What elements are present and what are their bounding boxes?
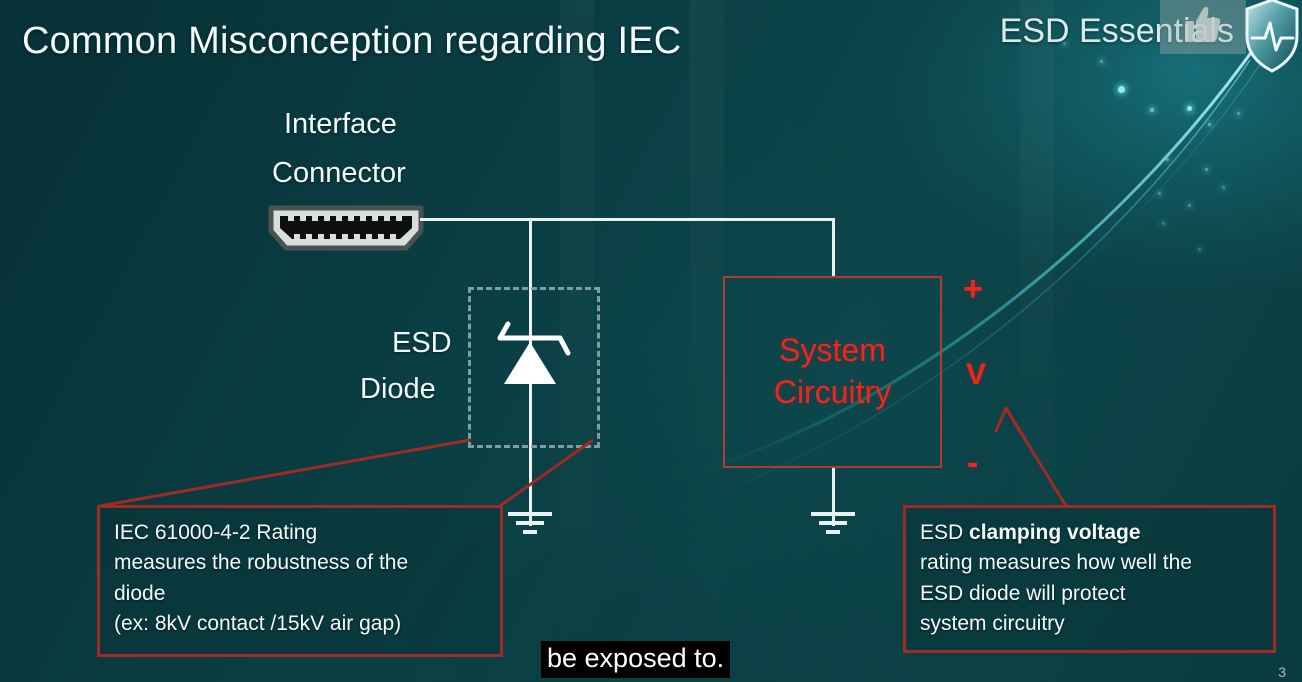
esd-label-line2: Diode — [360, 373, 436, 406]
background-particle — [1166, 158, 1169, 161]
background-particle — [1100, 60, 1103, 63]
callout-right-line1-prefix: ESD — [920, 521, 969, 544]
thumbs-up-icon[interactable] — [1160, 0, 1246, 54]
hdmi-connector-icon — [266, 203, 426, 253]
callout-right-line1: ESD clamping voltage — [920, 518, 1259, 548]
system-circuitry-line2: Circuitry — [774, 372, 891, 414]
callout-box-iec-rating: IEC 61000-4-2 Rating measures the robust… — [97, 505, 503, 657]
voltage-v-label: V — [966, 358, 986, 392]
wire-horizontal-main — [420, 218, 834, 221]
polarity-minus-label: - — [967, 444, 978, 483]
background-particle — [1208, 123, 1211, 126]
callout-box-clamping-voltage: ESD clamping voltage rating measures how… — [903, 505, 1276, 653]
callout-right-line3: ESD diode will protect — [920, 579, 1259, 609]
callout-right-line4: system circuitry — [920, 609, 1259, 639]
background-particle — [1158, 192, 1161, 195]
callout-left-line2: measures the robustness of the — [114, 548, 486, 578]
background-particle — [1222, 186, 1225, 189]
callout-left-line4: (ex: 8kV contact /15kV air gap) — [114, 609, 486, 639]
background-particle — [1187, 106, 1192, 111]
subtitle-caption: be exposed to. — [541, 641, 730, 678]
zener-diode-icon — [488, 308, 580, 390]
interface-label-line2: Connector — [272, 157, 406, 190]
shield-heartbeat-icon — [1243, 0, 1301, 74]
callout-left-line3: diode — [114, 579, 486, 609]
background-particle — [1162, 222, 1165, 225]
background-particle — [1205, 168, 1208, 171]
esd-label-line1: ESD — [392, 327, 452, 360]
background-particle — [1237, 112, 1240, 115]
background-particle — [1188, 204, 1191, 207]
interface-label-line1: Interface — [284, 108, 397, 141]
page-number: 3 — [1278, 664, 1286, 680]
callout-right-line2: rating measures how well the — [920, 548, 1259, 578]
background-streak — [690, 0, 724, 682]
system-circuitry-box: System Circuitry — [723, 276, 942, 468]
polarity-plus-label: + — [963, 270, 983, 309]
background-particle — [1118, 86, 1125, 93]
background-particle — [1198, 248, 1201, 251]
callout-right-line1-bold: clamping voltage — [969, 521, 1141, 544]
callout-left-line1: IEC 61000-4-2 Rating — [114, 518, 486, 548]
background-particle — [1150, 108, 1154, 112]
wire-vertical-system-bottom — [832, 468, 835, 526]
slide-canvas: Common Misconception regarding IEC ESD E… — [0, 0, 1302, 682]
page-title: Common Misconception regarding IEC — [22, 20, 681, 63]
system-circuitry-line1: System — [779, 330, 886, 372]
wire-vertical-system-top — [832, 218, 835, 278]
